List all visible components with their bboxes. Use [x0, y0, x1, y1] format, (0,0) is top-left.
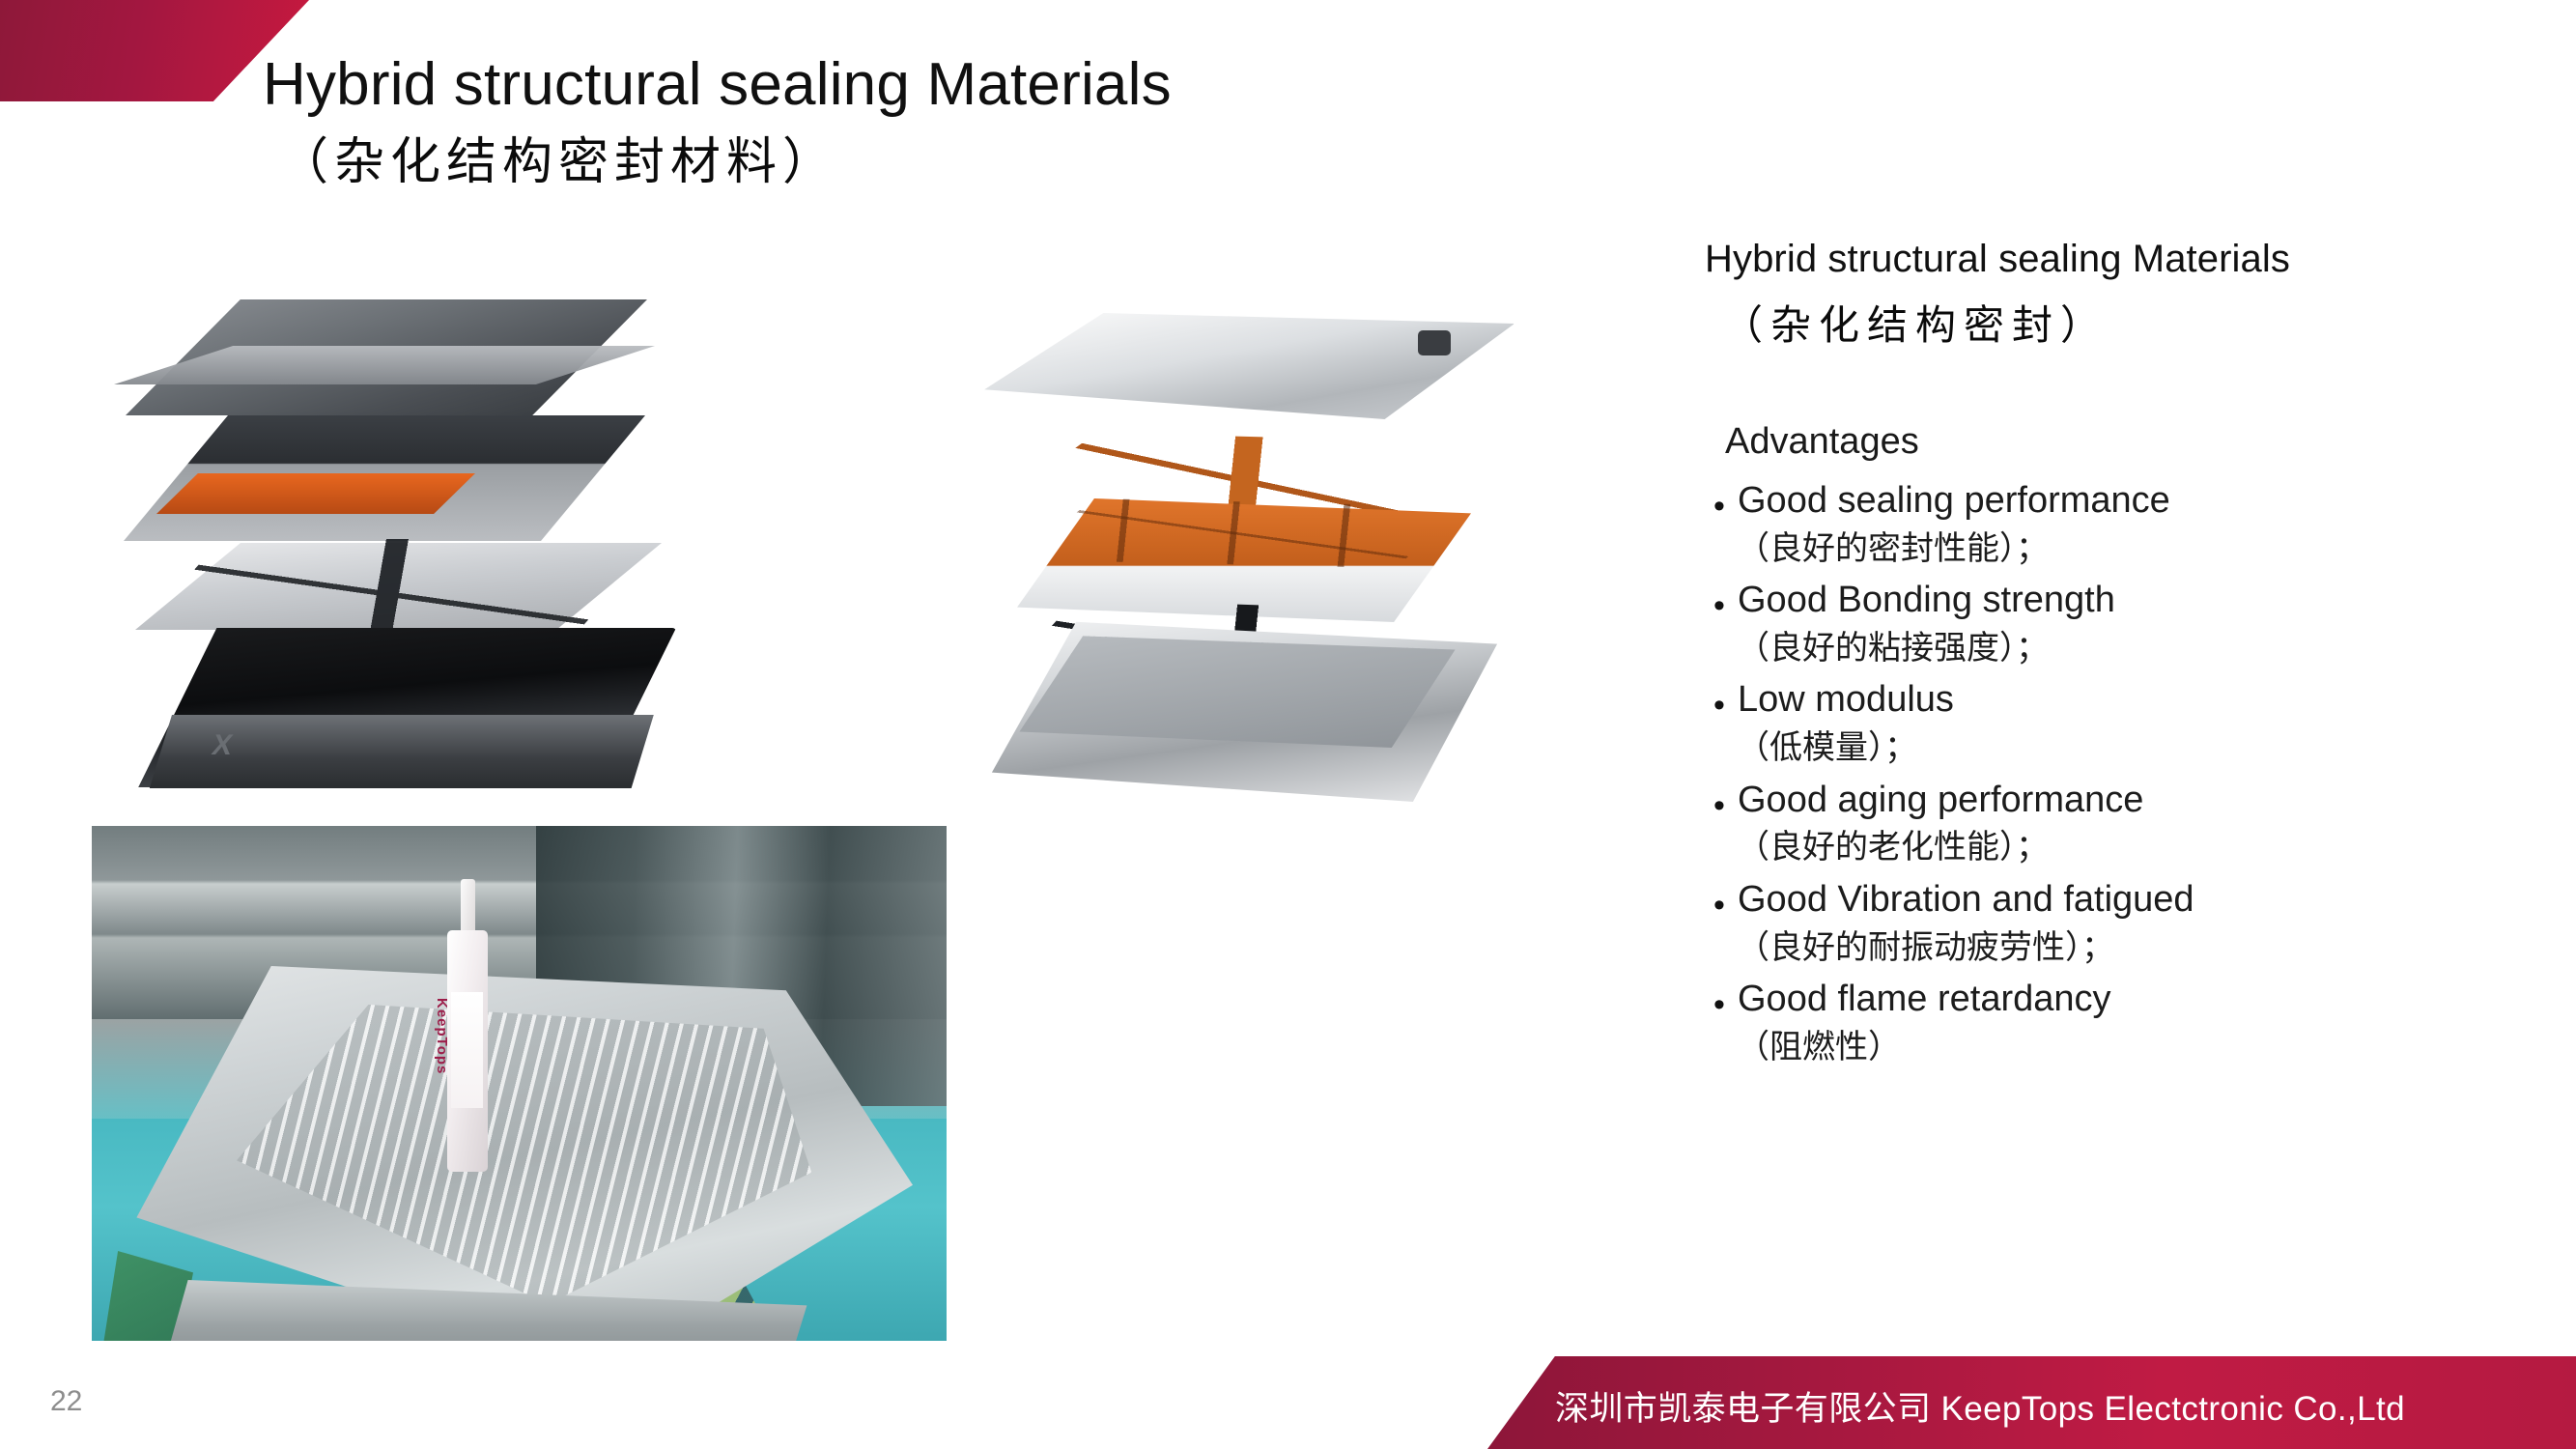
advantage-text-cn: （低模量）； — [1737, 729, 1917, 766]
slide-title-block: Hybrid structural sealing Materials （杂化结… — [263, 53, 1172, 195]
advantage-text-cn: （良好的密封性能）； — [1737, 530, 2049, 567]
advantage-text-en: Low modulus — [1738, 679, 1954, 720]
footer-company-name: 深圳市凯泰电子有限公司 KeepTops Electctronic Co.,Lt… — [1555, 1381, 2560, 1431]
pack2-module-seams — [1017, 498, 1471, 568]
pack2-upper-lid — [974, 313, 1514, 419]
exploded-battery-pack-dark-image: X — [97, 290, 695, 802]
advantage-text-en: Good sealing performance — [1738, 480, 2170, 521]
pack2-tray-floor — [1010, 634, 1464, 748]
advantage-text-cn: （良好的老化性能）； — [1737, 829, 2049, 866]
bullet-icon: • — [1705, 675, 1738, 735]
exploded-battery-pack-orange-image — [935, 309, 1698, 821]
list-item: • Low modulus （低模量）； — [1705, 675, 2555, 771]
advantage-text-cn: （阻燃性） — [1737, 1029, 1901, 1065]
list-item: • Good Bonding strength （良好的粘接强度）； — [1705, 576, 2555, 671]
advantage-text-en: Good Vibration and fatigued — [1738, 879, 2194, 920]
advantages-list: • Good sealing performance （良好的密封性能）； • … — [1705, 476, 2555, 1070]
bullet-icon: • — [1705, 776, 1738, 836]
bullet-icon: • — [1705, 476, 1738, 536]
sealant-cartridge-brand-text: KeepTops — [434, 998, 450, 1114]
advantage-text-cn: （良好的粘接强度）； — [1737, 630, 2049, 667]
battery-tray-workshop-photo: KeepTops — [92, 826, 947, 1341]
advantage-text-en: Good Bonding strength — [1738, 580, 2115, 620]
page-title-chinese: （杂化结构密封材料） — [278, 130, 1172, 196]
sealant-cartridge-nozzle — [461, 879, 475, 935]
list-item: • Good sealing performance （良好的密封性能）； — [1705, 476, 2555, 572]
sealant-cartridge-label — [451, 992, 483, 1108]
advantage-text-group: Good Vibration and fatigued （良好的耐振动疲劳性）； — [1738, 875, 2555, 971]
advantage-text-group: Low modulus （低模量）； — [1738, 675, 2555, 771]
right-panel-heading: Hybrid structural sealing Materials — [1705, 238, 2555, 281]
advantage-text-group: Good flame retardancy （阻燃性） — [1738, 975, 2555, 1070]
pack2-lid-connector — [1418, 330, 1451, 355]
advantage-text-en: Good flame retardancy — [1738, 979, 2111, 1019]
pack-orange-busbar — [156, 473, 475, 514]
advantage-text-group: Good aging performance （良好的老化性能）； — [1738, 776, 2555, 871]
advantage-text-group: Good sealing performance （良好的密封性能）； — [1738, 476, 2555, 572]
bullet-icon: • — [1705, 975, 1738, 1035]
advantages-heading: Advantages — [1725, 421, 2555, 463]
list-item: • Good Vibration and fatigued （良好的耐振动疲劳性… — [1705, 875, 2555, 971]
bullet-icon: • — [1705, 576, 1738, 636]
list-item: • Good aging performance （良好的老化性能）； — [1705, 776, 2555, 871]
list-item: • Good flame retardancy （阻燃性） — [1705, 975, 2555, 1070]
advantage-text-group: Good Bonding strength （良好的粘接强度）； — [1738, 576, 2555, 671]
page-number: 22 — [50, 1385, 82, 1418]
right-panel-heading-chinese: （杂化结构密封） — [1722, 293, 2555, 352]
pack-base-rim — [116, 715, 676, 788]
right-content-column: Hybrid structural sealing Materials （杂化结… — [1705, 238, 2555, 1074]
advantage-text-cn: （良好的耐振动疲劳性）； — [1737, 929, 2114, 966]
page-title: Hybrid structural sealing Materials — [263, 53, 1172, 117]
advantage-text-en: Good aging performance — [1738, 780, 2143, 820]
bullet-icon: • — [1705, 875, 1738, 935]
